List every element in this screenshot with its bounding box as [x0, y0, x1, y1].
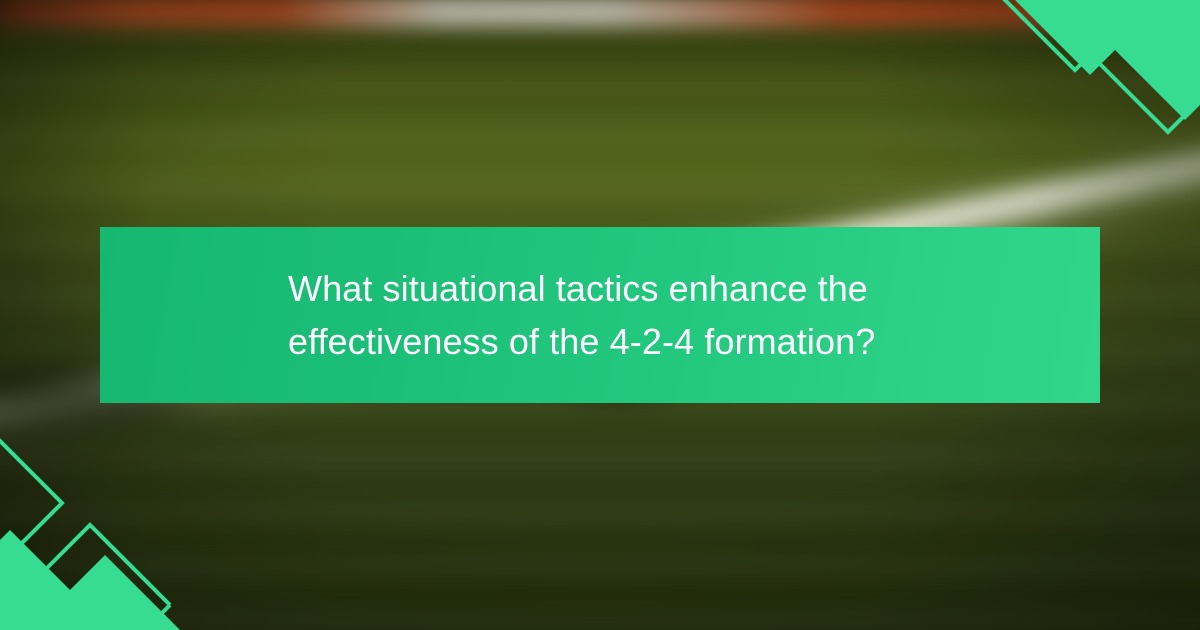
diamond-cluster-top-right	[1000, 0, 1200, 160]
question-card-canvas: What situational tactics enhance the eff…	[0, 0, 1200, 630]
question-banner: What situational tactics enhance the eff…	[100, 227, 1100, 403]
question-text: What situational tactics enhance the eff…	[100, 262, 1100, 368]
diamond-cluster-bottom-left	[0, 415, 200, 630]
